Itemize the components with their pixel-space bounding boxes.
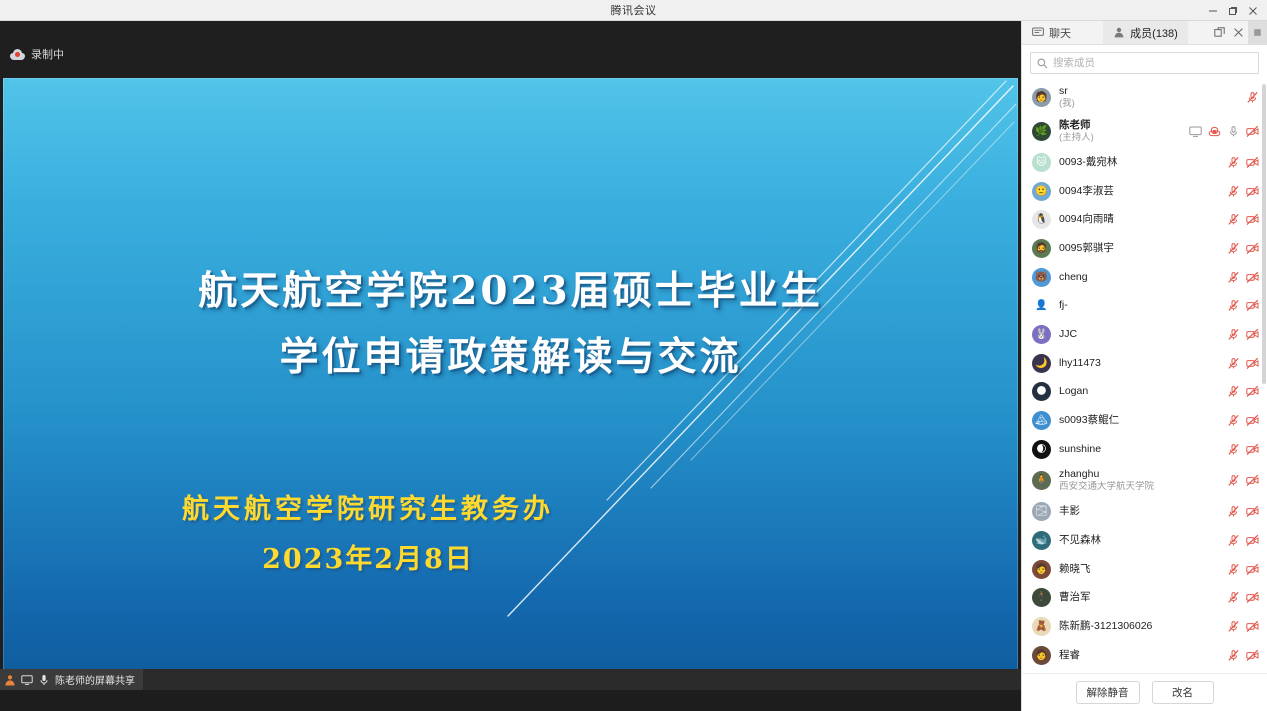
participants-panel: 聊天 成员(138) [1021,21,1267,711]
camera-off-red-icon [1246,213,1259,226]
avatar: 🌿 [1032,122,1051,141]
member-name-block: JJC [1059,328,1219,341]
avatar: 🧸 [1032,617,1051,636]
meeting-stage: 录制中 航天航空学院2023届硕士毕业生 学位申请政策解读与交流 航天航空学院研… [0,21,1021,690]
panel-footer: 解除静音 改名 [1022,673,1267,711]
member-name-block: 曹治军 [1059,591,1219,604]
avatar-glyph: 🧑 [1032,88,1051,107]
avatar: 🙂 [1032,182,1051,201]
member-name-block: 陈老师(主持人) [1059,119,1181,144]
mic-off-red-icon [1246,91,1259,104]
mic-off-red-icon [1227,649,1240,662]
member-status-icons [1227,271,1259,284]
camera-off-red-icon [1246,299,1259,312]
member-subtitle: 西安交通大学航天学院 [1059,481,1219,493]
slide-date: 2023年2月8日 [3,540,733,580]
avatar-glyph: 🙂 [1032,182,1051,201]
member-status-icons [1227,156,1259,169]
avatar-glyph: 🐋 [1032,531,1051,550]
member-name: zhanghu [1059,468,1219,481]
mic-off-red-icon [1227,505,1240,518]
member-name-block: 0095郭骐宇 [1059,242,1219,255]
maximize-button[interactable] [1223,0,1243,21]
slide-title: 航天航空学院2023届硕士毕业生 学位申请政策解读与交流 [3,258,1018,390]
camera-off-red-icon [1246,156,1259,169]
avatar-glyph: 🌙 [1032,354,1051,373]
tab-members-label: 成员(138) [1130,25,1178,41]
member-row[interactable]: 🧍zhanghu西安交通大学航天学院 [1022,464,1267,498]
scrollbar-thumb[interactable] [1262,84,1266,384]
avatar-glyph: 🏔 [1032,411,1051,430]
member-name-block: sr(我) [1059,85,1238,110]
member-name: lhy11473 [1059,357,1219,370]
camera-off-red-icon [1246,563,1259,576]
avatar-glyph: 🌫 [1032,502,1051,521]
screen-share-taskbar-item[interactable]: 陈老师的屏幕共享 [0,669,143,690]
camera-off-red-icon [1246,649,1259,662]
search-members-box[interactable] [1030,52,1259,74]
member-name: sunshine [1059,443,1219,456]
avatar-glyph: 🐻 [1032,268,1051,287]
avatar-glyph: 🌑 [1032,382,1051,401]
avatar-glyph: 🐱 [1032,153,1051,172]
camera-off-red-icon [1246,385,1259,398]
member-name-block: 赖晓飞 [1059,563,1219,576]
member-name: 不见森林 [1059,534,1219,547]
avatar-glyph: 🧍 [1032,471,1051,490]
camera-off-red-icon [1246,620,1259,633]
window-controls [1203,0,1263,21]
mic-off-red-icon [1227,474,1240,487]
member-name: 曹治军 [1059,591,1219,604]
slide-title-line-1: 航天航空学院2023届硕士毕业生 [3,258,1018,324]
mic-off-red-icon [1227,443,1240,456]
member-status-icons [1227,505,1259,518]
mic-off-red-icon [1227,414,1240,427]
member-name-block: cheng [1059,271,1219,284]
member-name-block: fj- [1059,299,1219,312]
member-status-icons [1227,620,1259,633]
mic-off-red-icon [1227,591,1240,604]
member-row[interactable]: 👤fj- [1022,291,1267,320]
member-status-icons [1227,591,1259,604]
member-name: 0094向雨晴 [1059,213,1219,226]
member-row[interactable]: 🐰JJC [1022,320,1267,349]
members-icon [1113,27,1125,38]
popout-icon[interactable] [1210,21,1229,45]
member-status-icons [1246,91,1259,104]
mic-off-red-icon [1227,185,1240,198]
avatar: 🧍 [1032,471,1051,490]
tab-members[interactable]: 成员(138) [1103,21,1188,44]
member-name-block: sunshine [1059,443,1219,456]
member-status-icons [1227,443,1259,456]
minimize-button[interactable] [1203,0,1223,21]
cloud-record-icon [10,49,25,60]
slide-subtitle-block: 航天航空学院研究生教务办 2023年2月8日 [3,490,733,580]
mic-off-red-icon [1227,213,1240,226]
member-row[interactable]: 🌙lhy11473 [1022,349,1267,378]
member-name: sr [1059,85,1238,98]
avatar: 🐧 [1032,210,1051,229]
member-status-icons [1227,534,1259,547]
slide-organization: 航天航空学院研究生教务办 [3,490,733,530]
avatar: 🕴 [1032,588,1051,607]
search-input[interactable] [1053,57,1252,69]
member-name-block: 0094李淑芸 [1059,185,1219,198]
window-titlebar: 腾讯会议 [0,0,1267,21]
avatar: 🐱 [1032,153,1051,172]
member-row[interactable]: 🧑赖晓飞 [1022,555,1267,584]
search-icon [1037,58,1048,69]
mic-off-red-icon [1227,385,1240,398]
camera-off-red-icon [1246,474,1259,487]
member-subtitle: (主持人) [1059,132,1181,144]
camera-off-red-icon [1246,414,1259,427]
cloud-record-red-icon [1208,125,1221,138]
member-status-icons [1227,385,1259,398]
member-row[interactable]: 🌒sunshine [1022,435,1267,464]
avatar-glyph: 🧑 [1032,646,1051,665]
member-row[interactable]: 🏔s0093蔡鲲仁 [1022,406,1267,435]
avatar: 🐻 [1032,268,1051,287]
member-status-icons [1227,357,1259,370]
camera-off-red-icon [1246,271,1259,284]
tab-chat-label: 聊天 [1049,25,1071,41]
member-row[interactable]: 🌫丰影 [1022,498,1267,527]
windows-taskbar: 陈老师的屏幕共享 [0,669,1021,690]
member-row[interactable]: 🌑Logan [1022,378,1267,407]
member-name: s0093蔡鲲仁 [1059,414,1219,427]
mic-off-red-icon [1227,242,1240,255]
members-list[interactable]: 🧑sr(我)🌿陈老师(主持人)🐱0093-戴宛林🙂0094李淑芸🐧0094向雨晴… [1022,80,1267,673]
member-row[interactable]: 🧸陈新鹏-3121306026 [1022,612,1267,641]
avatar-glyph: 🧑 [1032,560,1051,579]
member-name-block: zhanghu西安交通大学航天学院 [1059,468,1219,493]
member-name: 陈新鹏-3121306026 [1059,620,1219,633]
panel-actions [1210,21,1267,44]
member-name-block: 不见森林 [1059,534,1219,547]
mic-off-red-icon [1227,357,1240,370]
member-name-block: s0093蔡鲲仁 [1059,414,1219,427]
camera-off-red-icon [1246,242,1259,255]
camera-off-red-icon [1246,357,1259,370]
avatar: 🌫 [1032,502,1051,521]
avatar: 🧔 [1032,239,1051,258]
panel-menu-icon[interactable] [1248,21,1267,45]
member-row[interactable]: 🐱0093-戴宛林 [1022,148,1267,177]
member-name: 0094李淑芸 [1059,185,1219,198]
member-status-icons [1227,649,1259,662]
member-row[interactable]: 🐵党涛 [1022,670,1267,673]
mic-on-icon [1227,125,1240,138]
avatar: 🌒 [1032,440,1051,459]
avatar: 🏔 [1032,411,1051,430]
member-row[interactable]: 🐋不见森林 [1022,526,1267,555]
close-button[interactable] [1243,0,1263,21]
avatar: 🧑 [1032,88,1051,107]
search-section [1022,45,1267,80]
camera-off-red-icon [1246,185,1259,198]
mic-off-red-icon [1227,563,1240,576]
member-name: 陈老师 [1059,119,1181,132]
member-status-icons [1227,213,1259,226]
mic-off-red-icon [1227,299,1240,312]
camera-off-red-icon [1246,125,1259,138]
screen-share-icon [1189,125,1202,138]
camera-off-red-icon [1246,443,1259,456]
camera-off-red-icon [1246,591,1259,604]
member-status-icons [1189,125,1259,138]
avatar-glyph: 🌿 [1032,122,1051,141]
screen-share-label: 陈老师的屏幕共享 [55,672,135,687]
recording-label: 录制中 [31,46,64,62]
mic-off-red-icon [1227,328,1240,341]
avatar: 🐰 [1032,325,1051,344]
member-status-icons [1227,474,1259,487]
chat-icon [1032,27,1044,38]
shared-screen-slide: 航天航空学院2023届硕士毕业生 学位申请政策解读与交流 航天航空学院研究生教务… [3,78,1018,671]
share-person-icon [4,674,16,686]
member-status-icons [1227,414,1259,427]
member-name-block: Logan [1059,385,1219,398]
mic-off-red-icon [1227,534,1240,547]
member-name: 丰影 [1059,505,1219,518]
member-row[interactable]: 🧑程睿 [1022,641,1267,670]
avatar: 🧑 [1032,646,1051,665]
members-scrollbar[interactable] [1262,80,1266,673]
member-name-block: 程睿 [1059,649,1219,662]
microphone-icon [38,674,50,686]
panel-close-icon[interactable] [1229,21,1248,45]
avatar-glyph: 🐰 [1032,325,1051,344]
member-status-icons [1227,328,1259,341]
rename-button[interactable]: 改名 [1152,681,1214,704]
mic-off-red-icon [1227,620,1240,633]
avatar-glyph: 🧔 [1032,239,1051,258]
panel-tabs: 聊天 成员(138) [1022,21,1267,45]
monitor-icon [21,674,33,686]
member-name: fj- [1059,299,1219,312]
member-name: 0095郭骐宇 [1059,242,1219,255]
avatar: 🧑 [1032,560,1051,579]
mic-off-red-icon [1227,156,1240,169]
avatar: 🌙 [1032,354,1051,373]
member-row[interactable]: 🐻cheng [1022,263,1267,292]
member-row[interactable]: 🕴曹治军 [1022,584,1267,613]
member-status-icons [1227,185,1259,198]
member-status-icons [1227,242,1259,255]
avatar-glyph: 🕴 [1032,588,1051,607]
member-name: 程睿 [1059,649,1219,662]
recording-indicator: 录制中 [10,45,64,63]
member-name: 0093-戴宛林 [1059,156,1219,169]
avatar: 🌑 [1032,382,1051,401]
member-row[interactable]: 🧑sr(我) [1022,80,1267,114]
camera-off-red-icon [1246,328,1259,341]
avatar-glyph: 🌒 [1032,440,1051,459]
avatar: 🐋 [1032,531,1051,550]
member-name: 赖晓飞 [1059,563,1219,576]
member-status-icons [1227,299,1259,312]
avatar-glyph: 🧸 [1032,617,1051,636]
member-status-icons [1227,563,1259,576]
member-name-block: 0093-戴宛林 [1059,156,1219,169]
member-row[interactable]: 🌿陈老师(主持人) [1022,114,1267,148]
member-name: JJC [1059,328,1219,341]
member-name: cheng [1059,271,1219,284]
tencent-meeting-window: 腾讯会议 录制中 [0,0,1267,711]
member-name: Logan [1059,385,1219,398]
camera-off-red-icon [1246,534,1259,547]
avatar: 👤 [1032,296,1051,315]
mic-off-red-icon [1227,271,1240,284]
member-name-block: lhy11473 [1059,357,1219,370]
camera-off-red-icon [1246,505,1259,518]
avatar-glyph: 🐧 [1032,210,1051,229]
member-row[interactable]: 🐧0094向雨晴 [1022,205,1267,234]
member-row[interactable]: 🧔0095郭骐宇 [1022,234,1267,263]
member-subtitle: (我) [1059,98,1238,110]
member-name-block: 丰影 [1059,505,1219,518]
member-row[interactable]: 🙂0094李淑芸 [1022,177,1267,206]
window-title: 腾讯会议 [611,2,657,18]
unmute-all-button[interactable]: 解除静音 [1076,681,1140,704]
member-name-block: 0094向雨晴 [1059,213,1219,226]
tab-chat[interactable]: 聊天 [1022,21,1081,44]
avatar-glyph: 👤 [1032,296,1051,315]
member-name-block: 陈新鹏-3121306026 [1059,620,1219,633]
slide-title-line-2: 学位申请政策解读与交流 [3,324,1018,390]
